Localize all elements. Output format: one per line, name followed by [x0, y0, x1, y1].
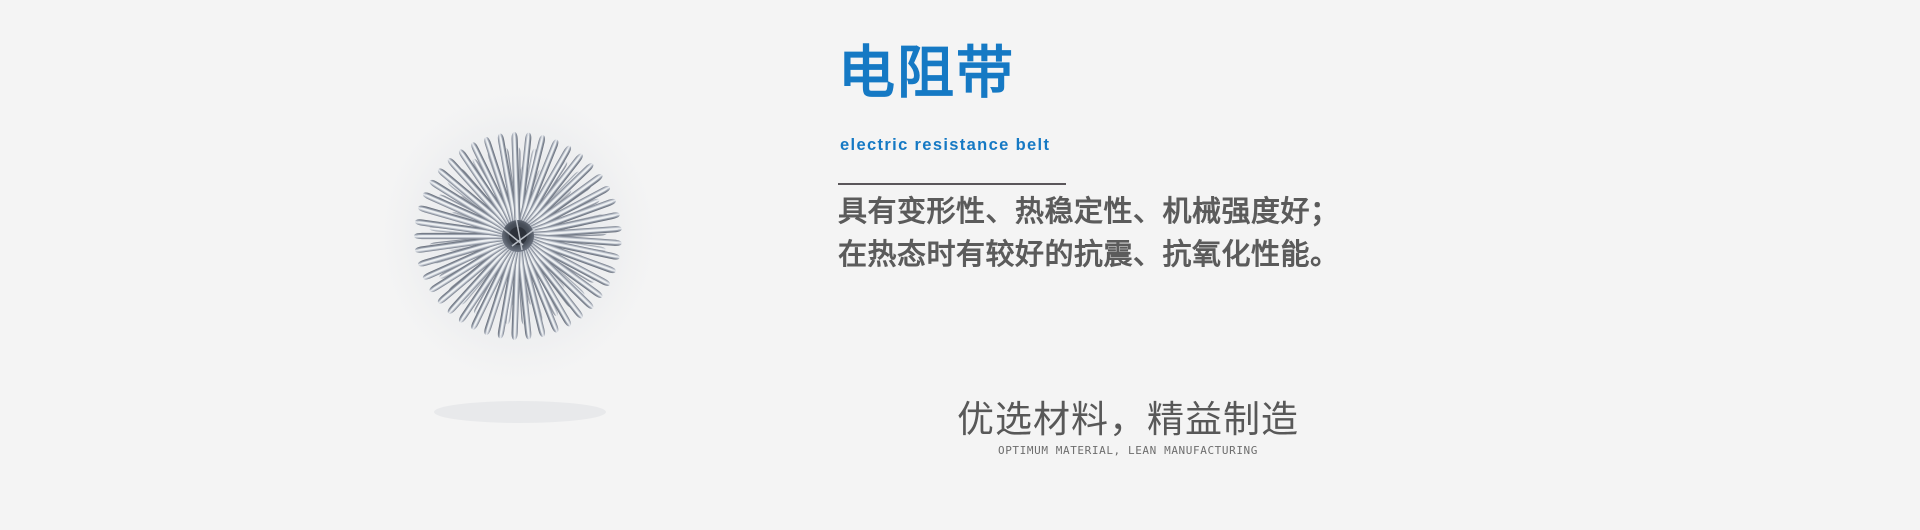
tagline-en: OPTIMUM MATERIAL, LEAN MANUFACTURING — [948, 444, 1308, 458]
product-banner: 电阻带 electric resistance belt 具有变形性、热稳定性、… — [0, 0, 1920, 530]
product-image — [368, 60, 678, 440]
text-column: 电阻带 electric resistance belt 具有变形性、热稳定性、… — [838, 0, 1858, 530]
resistance-belt-illustration — [368, 60, 678, 440]
page-subtitle: electric resistance belt — [840, 136, 1050, 155]
description-line-1: 具有变形性、热稳定性、机械强度好； — [838, 190, 1340, 233]
title-divider — [838, 183, 1066, 185]
product-description: 具有变形性、热稳定性、机械强度好； 在热态时有较好的抗震、抗氧化性能。 — [838, 190, 1340, 276]
tagline-block: 优选材料，精益制造 OPTIMUM MATERIAL, LEAN MANUFAC… — [948, 398, 1308, 458]
page-title: 电阻带 — [838, 42, 1015, 106]
tagline-cn: 优选材料，精益制造 — [948, 398, 1308, 442]
description-line-2: 在热态时有较好的抗震、抗氧化性能。 — [838, 233, 1340, 276]
